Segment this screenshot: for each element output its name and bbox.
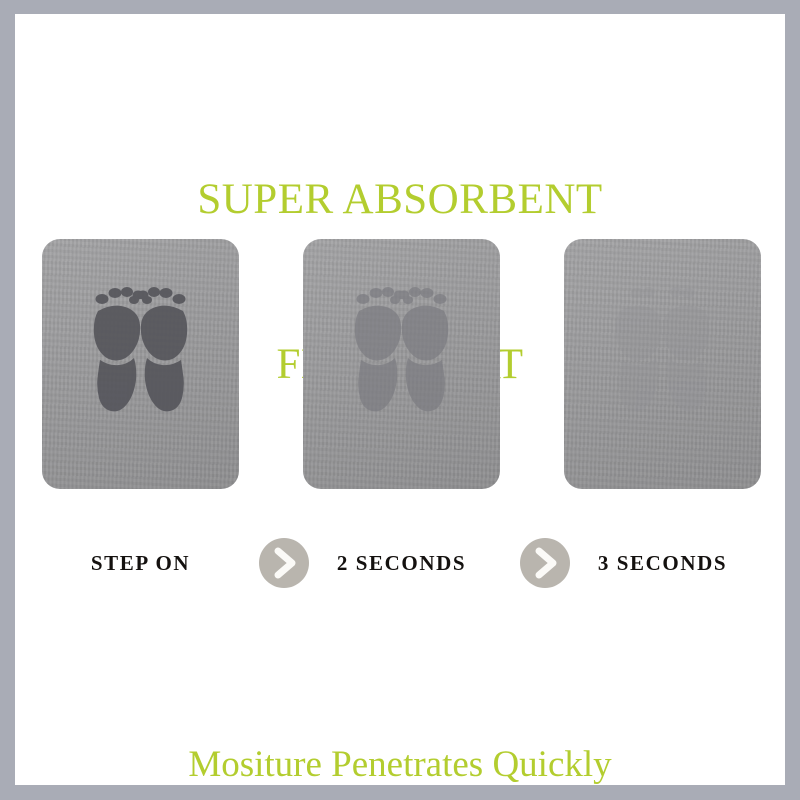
step-caption-3: 3 SECONDS: [564, 532, 761, 594]
tagline-line-1: Mositure Penetrates Quickly: [15, 740, 785, 785]
chevron-right-icon: [520, 538, 570, 588]
absorption-demo-strip: [15, 239, 785, 509]
floor-mat-step-2: [303, 239, 500, 489]
step-caption-row: STEP ON 2 SECONDS 3 SECONDS: [15, 532, 785, 594]
floor-mat-step-1: [42, 239, 239, 489]
step-caption-1: STEP ON: [42, 532, 239, 594]
card-inner-panel: SUPER ABSORBENT FLOOR MAT: [15, 14, 785, 785]
footprints-dark-icon: [42, 239, 239, 489]
footprints-faint-icon: [303, 239, 500, 489]
demo-step-2-image: [303, 239, 500, 489]
chevron-right-icon: [259, 538, 309, 588]
demo-step-1-image: [42, 239, 239, 489]
product-infographic-card: SUPER ABSORBENT FLOOR MAT: [0, 0, 800, 800]
demo-step-3-image: [564, 239, 761, 489]
page-title-line-1: SUPER ABSORBENT: [15, 172, 785, 227]
footprints-absorbed-icon: [564, 239, 761, 489]
floor-mat-step-3: [564, 239, 761, 489]
step-caption-2: 2 SECONDS: [303, 532, 500, 594]
tagline: Mositure Penetrates Quickly And Does Not…: [15, 642, 785, 785]
